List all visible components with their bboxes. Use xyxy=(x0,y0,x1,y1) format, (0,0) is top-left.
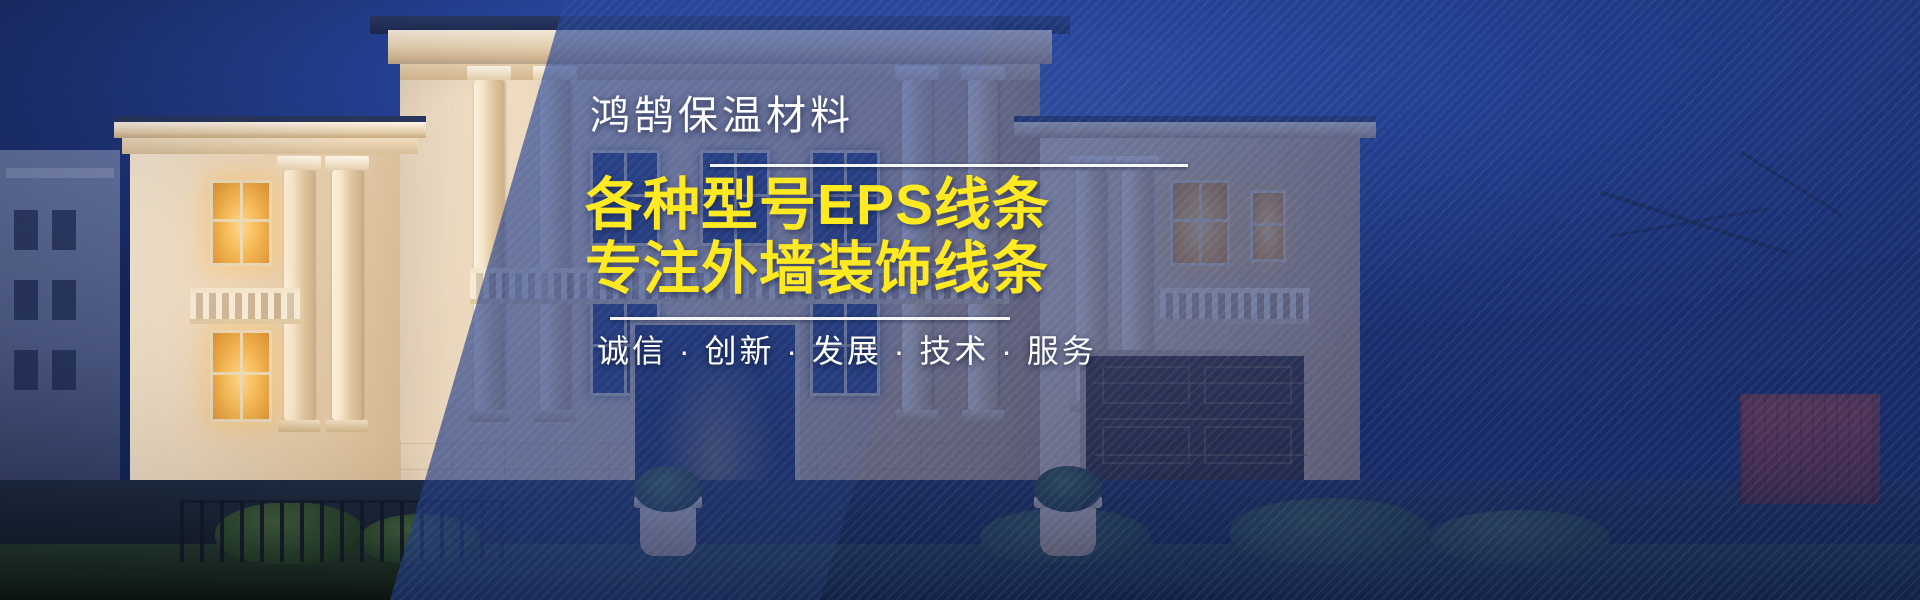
banner-text-block: 鸿鹄保温材料 各种型号EPS线条 专注外墙装饰线条 诚信 · 创新 · 发展 ·… xyxy=(585,96,1345,369)
tagline: 诚信 · 创新 · 发展 · 技术 · 服务 xyxy=(585,334,1345,369)
divider-bottom xyxy=(610,317,1010,320)
hero-banner: 鸿鹄保温材料 各种型号EPS线条 专注外墙装饰线条 诚信 · 创新 · 发展 ·… xyxy=(0,0,1920,600)
divider-top xyxy=(710,164,1188,167)
headline-line-1: 各种型号EPS线条 xyxy=(585,176,1345,234)
company-name: 鸿鹄保温材料 xyxy=(585,96,1345,136)
headline-line-2: 专注外墙装饰线条 xyxy=(585,240,1345,298)
headline: 各种型号EPS线条 专注外墙装饰线条 xyxy=(585,176,1345,298)
